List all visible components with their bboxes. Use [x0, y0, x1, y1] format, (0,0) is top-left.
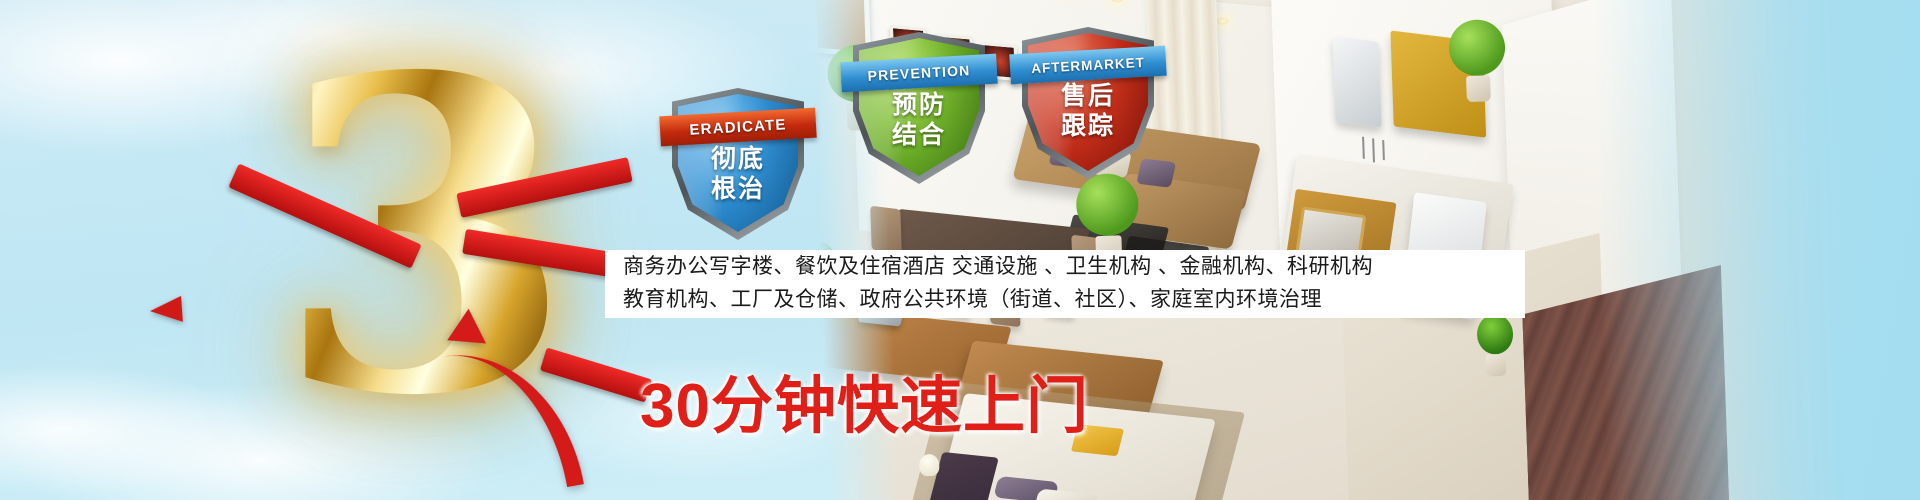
- headline-text: 30分钟快速上门: [640, 355, 1089, 445]
- dining-chair: [870, 206, 902, 254]
- bedside-lamp: [919, 454, 940, 477]
- potted-plant: [1476, 314, 1514, 377]
- shield-label-cn-1: 彻底: [672, 146, 804, 173]
- shield-prevention[interactable]: PREVENTION 预防 结合: [853, 32, 985, 184]
- shield-label-cn-1: 预防: [853, 92, 985, 119]
- range-hood: [1333, 36, 1382, 128]
- shield-aftermarket[interactable]: AFTERMARKET 售后 跟踪: [1022, 27, 1154, 179]
- service-scope-box: 商务办公写字楼、餐饮及住宿酒店 交通设施 、卫生机构 、金融机构、科研机构 教育…: [605, 250, 1525, 318]
- shield-label-cn-2: 根治: [672, 176, 804, 203]
- shield-label-cn-2: 跟踪: [1022, 113, 1154, 140]
- potted-plant: [1448, 19, 1507, 103]
- ribbon-arrow-icon: [149, 296, 183, 324]
- service-scope-line-1: 商务办公写字楼、餐饮及住宿酒店 交通设施 、卫生机构 、金融机构、科研机构: [623, 251, 1525, 284]
- shield-label-cn-2: 结合: [853, 122, 985, 149]
- service-scope-line-2: 教育机构、工厂及仓储、政府公共环境（街道、社区）、家庭室内环境治理: [623, 284, 1525, 317]
- shield-eradicate[interactable]: ERADICATE 彻底 根治: [672, 88, 804, 240]
- promo-banner: 3 ERADICATE 彻底 根治 PREVENTION 预防 结合 AFTER…: [0, 0, 1920, 500]
- shield-label-cn-1: 售后: [1022, 83, 1154, 110]
